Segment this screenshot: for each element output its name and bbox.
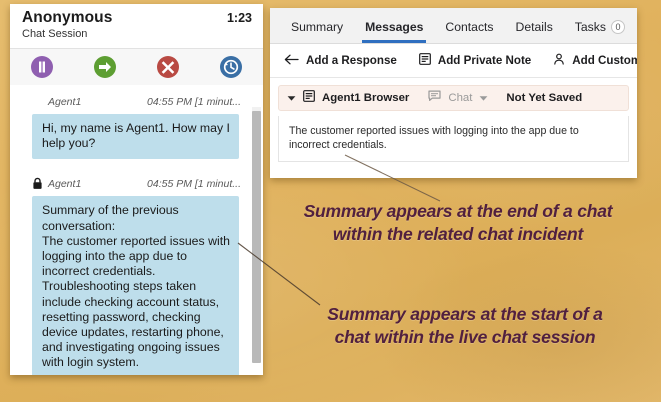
- tab-summary[interactable]: Summary: [280, 20, 354, 43]
- chat-incident-panel: Summary Messages Contacts Details Tasks …: [270, 8, 637, 178]
- tab-truncated[interactable]: C: [636, 20, 637, 43]
- tab-tasks[interactable]: Tasks 0: [564, 20, 636, 43]
- end-chat-button[interactable]: [137, 49, 200, 85]
- add-customer-button[interactable]: Add Custom: [553, 53, 637, 68]
- chat-summary-bubble: Summary of the previous conversation: Th…: [32, 196, 239, 375]
- tasks-count-badge: 0: [611, 20, 625, 34]
- incident-action-bar: Add a Response Add Private Note Add Cu: [270, 44, 637, 78]
- chevron-down-icon[interactable]: [287, 89, 296, 107]
- close-x-icon: [157, 56, 179, 78]
- tab-messages[interactable]: Messages: [354, 20, 434, 43]
- entry-channel: Chat: [448, 92, 472, 104]
- chat-session-label: Chat Session: [22, 27, 253, 41]
- transfer-chat-button[interactable]: [73, 49, 136, 85]
- chevron-down-icon[interactable]: [479, 89, 488, 107]
- message-meta: Agent1 04:55 PM [1 minut...: [10, 94, 263, 110]
- tab-label: Contacts: [445, 20, 493, 34]
- reply-arrow-icon: [284, 54, 299, 68]
- message-meta-private: Agent1 04:55 PM [1 minut...: [10, 176, 263, 192]
- chat-history-button[interactable]: [200, 49, 263, 85]
- action-label: Add Custom: [572, 54, 637, 67]
- message-time: 04:55 PM [1 minut...: [147, 178, 241, 190]
- chat-scrollbar-thumb[interactable]: [252, 111, 261, 363]
- note-icon: [303, 89, 315, 107]
- message-author: Agent1: [48, 178, 81, 190]
- annotation-line-1: Summary appears at the start of a: [276, 303, 654, 326]
- add-private-note-button[interactable]: Add Private Note: [419, 53, 531, 68]
- chat-header: Anonymous Chat Session 1:23: [10, 4, 263, 48]
- entry-status: Not Yet Saved: [506, 92, 582, 104]
- chat-bubble-icon: [428, 89, 441, 107]
- person-icon: [553, 53, 565, 68]
- arrow-right-icon: [94, 56, 116, 78]
- live-chat-session-panel: Anonymous Chat Session 1:23: [10, 4, 263, 375]
- chat-message-list[interactable]: Agent1 04:55 PM [1 minut... Hi, my name …: [10, 85, 263, 375]
- tab-label: Tasks: [575, 20, 606, 34]
- chat-toolbar: [10, 48, 263, 86]
- chat-message-bubble: Hi, my name is Agent1. How may I help yo…: [32, 114, 239, 159]
- message-time: 04:55 PM [1 minut...: [147, 96, 241, 108]
- chat-visitor-name: Anonymous: [22, 9, 253, 26]
- message-entry-body[interactable]: The customer reported issues with loggin…: [278, 116, 629, 162]
- entry-title: Agent1 Browser: [322, 92, 409, 104]
- entry-body-text: The customer reported issues with loggin…: [289, 124, 618, 152]
- message-entry-header[interactable]: Agent1 Browser Chat Not Yet Saved: [278, 85, 629, 111]
- annotation-line-1: Summary appears at the end of a chat: [262, 200, 654, 223]
- tab-details[interactable]: Details: [505, 20, 564, 43]
- chat-duration-timer: 1:23: [227, 11, 252, 25]
- tab-label: Messages: [365, 20, 423, 34]
- action-label: Add Private Note: [438, 54, 531, 67]
- annotation-end-of-chat: Summary appears at the end of a chat wit…: [262, 200, 654, 246]
- add-a-response-button[interactable]: Add a Response: [284, 54, 397, 68]
- annotation-start-of-chat: Summary appears at the start of a chat w…: [276, 303, 654, 349]
- tab-contacts[interactable]: Contacts: [434, 20, 504, 43]
- annotation-line-2: within the related chat incident: [262, 223, 654, 246]
- lock-icon: [32, 177, 43, 193]
- note-icon: [419, 53, 431, 68]
- clock-history-icon: [220, 56, 242, 78]
- pause-icon: [31, 56, 53, 78]
- tab-label: Details: [516, 20, 553, 34]
- tab-label: Summary: [291, 20, 343, 34]
- annotation-line-2: chat within the live chat session: [276, 326, 654, 349]
- incident-tab-bar: Summary Messages Contacts Details Tasks …: [270, 8, 637, 44]
- action-label: Add a Response: [306, 54, 397, 67]
- pause-chat-button[interactable]: [10, 49, 73, 85]
- message-author: Agent1: [48, 96, 81, 108]
